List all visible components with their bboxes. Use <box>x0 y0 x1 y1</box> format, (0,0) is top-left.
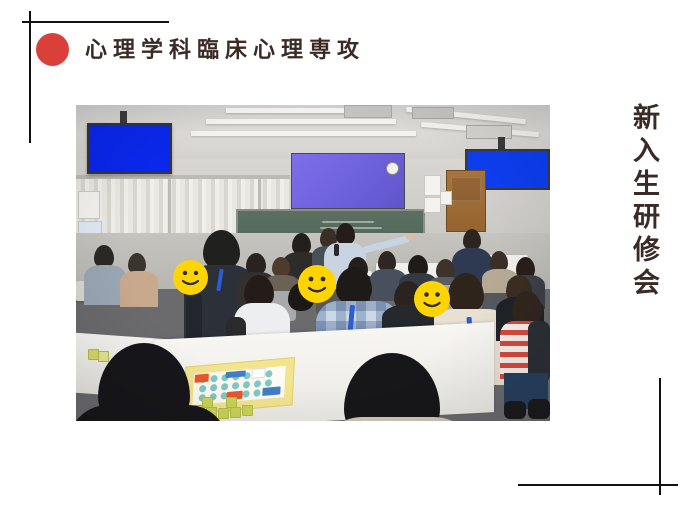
page-title-label: 心理学科臨床心理専攻 <box>85 39 365 61</box>
presenter-head <box>336 223 355 245</box>
game-piece <box>202 397 213 408</box>
ceiling-light-strip <box>191 131 416 136</box>
wall-clock-icon <box>386 162 399 175</box>
ceiling-vent <box>344 105 392 118</box>
person-head <box>203 230 240 270</box>
smiley-sticker-2 <box>298 265 336 303</box>
projection-screen <box>291 153 405 209</box>
game-piece <box>218 408 229 419</box>
presenter-hand <box>406 233 415 240</box>
game-piece <box>98 351 109 362</box>
person-head <box>463 229 481 250</box>
wall-notice <box>78 191 100 219</box>
smiley-sticker-3 <box>414 281 450 317</box>
page-title: 心理学科臨床心理専攻 <box>36 33 365 66</box>
game-piece <box>242 405 253 416</box>
tv-monitor-left <box>87 123 172 174</box>
slide-canvas: 心理学科臨床心理専攻 新入生研修会 <box>0 0 700 525</box>
bottom-right-vertical-rule <box>659 378 661 495</box>
person-boot <box>528 399 550 419</box>
classroom-orientation-photo <box>76 105 550 421</box>
game-piece <box>226 397 237 408</box>
person-body <box>120 271 158 307</box>
game-piece <box>230 407 241 418</box>
wall-notice <box>424 197 441 213</box>
ceiling-vent <box>466 125 512 139</box>
ceiling-vent <box>412 107 454 119</box>
person-head <box>512 291 542 325</box>
person-head <box>272 257 290 277</box>
bottom-right-horizontal-rule <box>518 484 678 486</box>
smiley-sticker-1 <box>173 260 208 295</box>
ceiling-light-strip <box>206 119 396 124</box>
microphone-icon <box>334 244 339 256</box>
person-boot <box>504 401 526 419</box>
top-left-vertical-rule <box>29 11 31 143</box>
top-left-horizontal-rule <box>22 21 169 23</box>
wall-notice <box>424 175 441 196</box>
wall-notice <box>440 191 452 205</box>
person-head <box>448 273 484 313</box>
red-circle-bullet-icon <box>36 33 69 66</box>
door-panel <box>451 177 481 201</box>
person-head <box>336 267 372 305</box>
side-title: 新入生研修会 <box>617 103 657 301</box>
